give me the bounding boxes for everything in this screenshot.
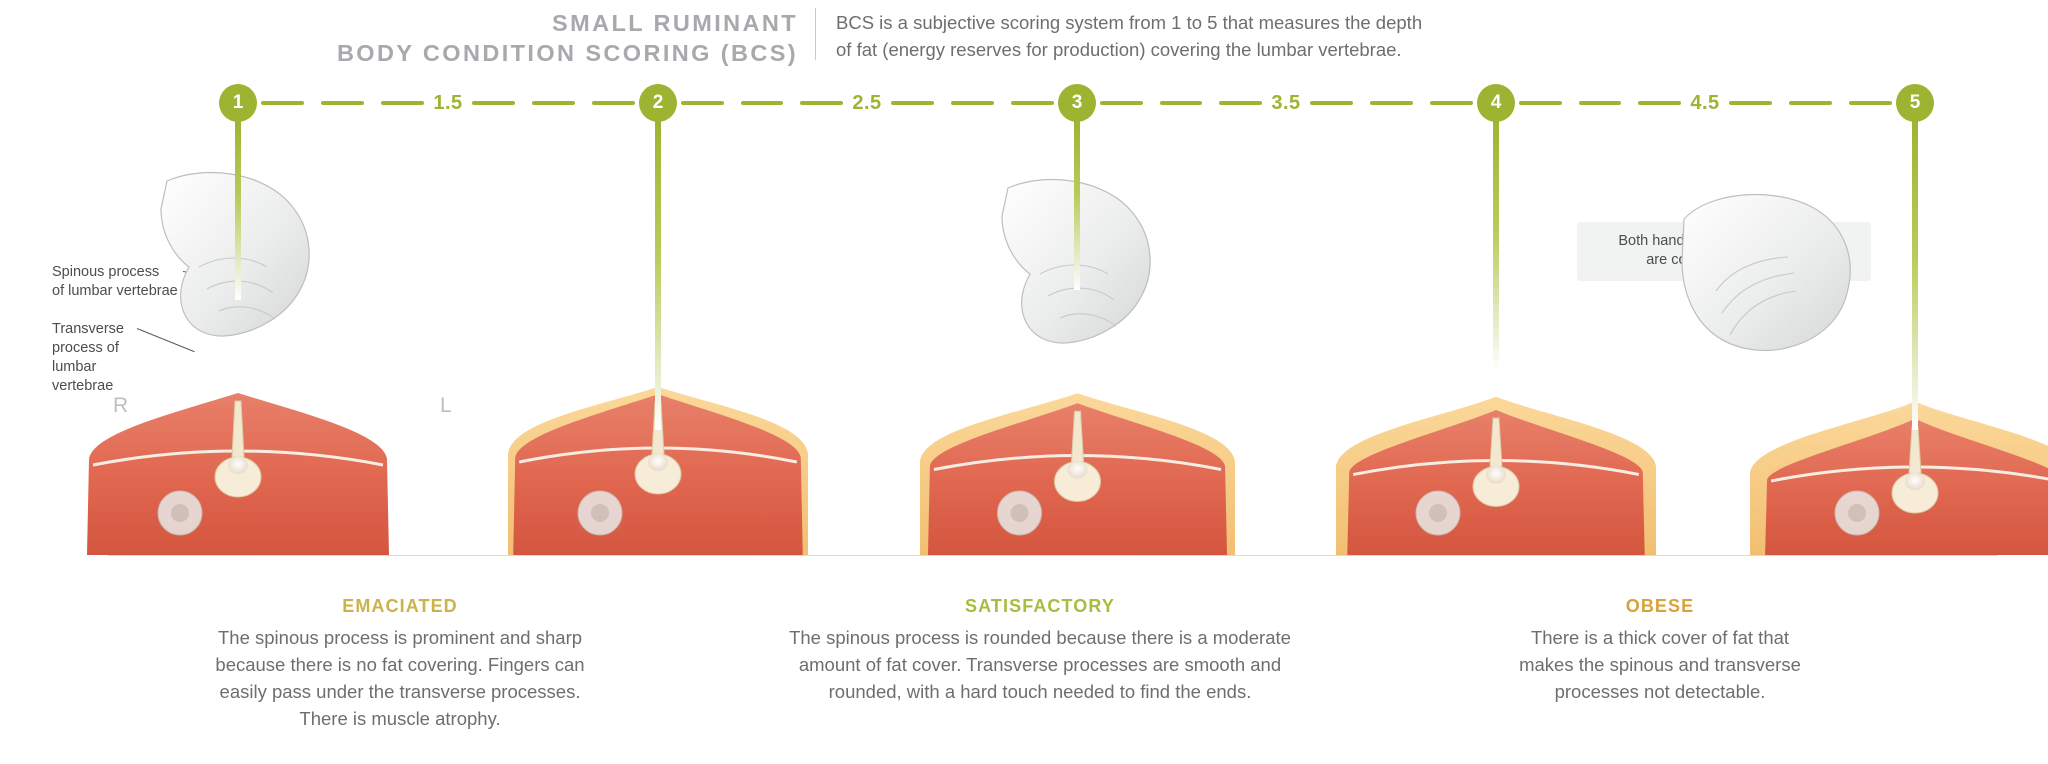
scale-label-3-5[interactable]: 3.5 xyxy=(1271,92,1300,115)
bcs-scale: 1.52.53.54.512345 xyxy=(0,84,2048,140)
tissue-texture xyxy=(997,491,1041,535)
caption-line: easily pass under the transverse process… xyxy=(120,678,680,705)
scale-node-3[interactable]: 3 xyxy=(1058,84,1096,122)
spinal-canal xyxy=(1067,461,1087,479)
scale-dash xyxy=(472,101,515,105)
scale-dash xyxy=(1219,101,1262,105)
tissue-texture xyxy=(1416,491,1460,535)
page-title-line2: BODY CONDITION SCORING (BCS) xyxy=(238,38,798,68)
header: SMALL RUMINANT BODY CONDITION SCORING (B… xyxy=(0,0,2048,76)
scale-dash xyxy=(321,101,364,105)
caption-emaciated: EMACIATEDThe spinous process is prominen… xyxy=(120,596,680,732)
scale-dash xyxy=(1519,101,1562,105)
caption-title-satisfactory: SATISFACTORY xyxy=(730,596,1350,617)
caption-line: rounded, with a hard touch needed to fin… xyxy=(730,678,1350,705)
bcs-3-cross-section xyxy=(910,385,1245,555)
spinal-canal xyxy=(228,456,248,474)
bcs-1-cross-section xyxy=(73,385,403,555)
scale-dash xyxy=(261,101,304,105)
scale-dash xyxy=(532,101,575,105)
caption-line: because there is no fat covering. Finger… xyxy=(120,651,680,678)
scale-dropline-2 xyxy=(655,118,661,430)
scale-label-4-5[interactable]: 4.5 xyxy=(1690,92,1719,115)
spinal-canal xyxy=(648,453,668,471)
scale-dash xyxy=(592,101,635,105)
scale-label-2-5[interactable]: 2.5 xyxy=(852,92,881,115)
scale-dash xyxy=(800,101,843,105)
caption-title-obese: OBESE xyxy=(1400,596,1920,617)
scale-dropline-1 xyxy=(235,118,241,300)
scale-dash xyxy=(1579,101,1622,105)
header-description: BCS is a subjective scoring system from … xyxy=(836,9,1596,63)
scale-dropline-4 xyxy=(1493,118,1499,370)
left-side-marker: L xyxy=(440,394,452,418)
page-title-line1: SMALL RUMINANT xyxy=(552,10,798,36)
scale-dash xyxy=(1100,101,1143,105)
caption-line: amount of fat cover. Transverse processe… xyxy=(730,651,1350,678)
caption-body-emaciated: The spinous process is prominent and sha… xyxy=(120,624,680,732)
hand-shape xyxy=(1682,195,1850,351)
scale-dash xyxy=(1160,101,1203,105)
tissue-texture xyxy=(578,491,622,535)
caption-body-obese: There is a thick cover of fat thatmakes … xyxy=(1400,624,1920,705)
palpating-hand-score-5 xyxy=(1670,185,1880,370)
caption-line: There is a thick cover of fat that xyxy=(1400,624,1920,651)
page-title: SMALL RUMINANT BODY CONDITION SCORING (B… xyxy=(238,8,798,68)
illustration-stage: Spinous process of lumbar vertebrae Tran… xyxy=(0,140,2048,580)
captions-row: EMACIATEDThe spinous process is prominen… xyxy=(0,596,2048,746)
caption-title-emaciated: EMACIATED xyxy=(120,596,680,617)
scale-node-2[interactable]: 2 xyxy=(639,84,677,122)
baseline-divider xyxy=(108,555,1998,556)
scale-dropline-5 xyxy=(1912,118,1918,430)
scale-dash xyxy=(741,101,784,105)
header-divider xyxy=(815,8,816,60)
scale-dash xyxy=(1011,101,1054,105)
caption-line: makes the spinous and transverse xyxy=(1400,651,1920,678)
scale-dash xyxy=(951,101,994,105)
header-description-line2: of fat (energy reserves for production) … xyxy=(836,36,1596,63)
palpating-hand-score-3 xyxy=(978,170,1168,375)
scale-node-4[interactable]: 4 xyxy=(1477,84,1515,122)
caption-line: The spinous process is prominent and sha… xyxy=(120,624,680,651)
caption-body-satisfactory: The spinous process is rounded because t… xyxy=(730,624,1350,705)
tissue-texture xyxy=(158,491,202,535)
palpating-hand-score-1 xyxy=(137,163,327,368)
caption-line: There is muscle atrophy. xyxy=(120,705,680,732)
header-description-line1: BCS is a subjective scoring system from … xyxy=(836,12,1422,33)
scale-dash xyxy=(1638,101,1681,105)
scale-dash xyxy=(1370,101,1413,105)
bcs-5-cross-section xyxy=(1740,390,2048,555)
scale-dash xyxy=(1849,101,1892,105)
caption-line: The spinous process is rounded because t… xyxy=(730,624,1350,651)
spinal-canal xyxy=(1905,472,1925,490)
scale-dash xyxy=(1729,101,1772,105)
scale-dash xyxy=(1310,101,1353,105)
scale-dash xyxy=(1430,101,1473,105)
caption-obese: OBESEThere is a thick cover of fat thatm… xyxy=(1400,596,1920,705)
bcs-4-cross-section xyxy=(1326,387,1666,555)
scale-dropline-3 xyxy=(1074,118,1080,290)
scale-node-5[interactable]: 5 xyxy=(1896,84,1934,122)
caption-line: processes not detectable. xyxy=(1400,678,1920,705)
scale-dash xyxy=(381,101,424,105)
scale-dash xyxy=(1789,101,1832,105)
spinal-canal xyxy=(1486,466,1506,484)
scale-node-1[interactable]: 1 xyxy=(219,84,257,122)
tissue-texture xyxy=(1835,491,1879,535)
scale-label-1-5[interactable]: 1.5 xyxy=(433,92,462,115)
scale-dash xyxy=(681,101,724,105)
caption-satisfactory: SATISFACTORYThe spinous process is round… xyxy=(730,596,1350,705)
scale-dash xyxy=(891,101,934,105)
